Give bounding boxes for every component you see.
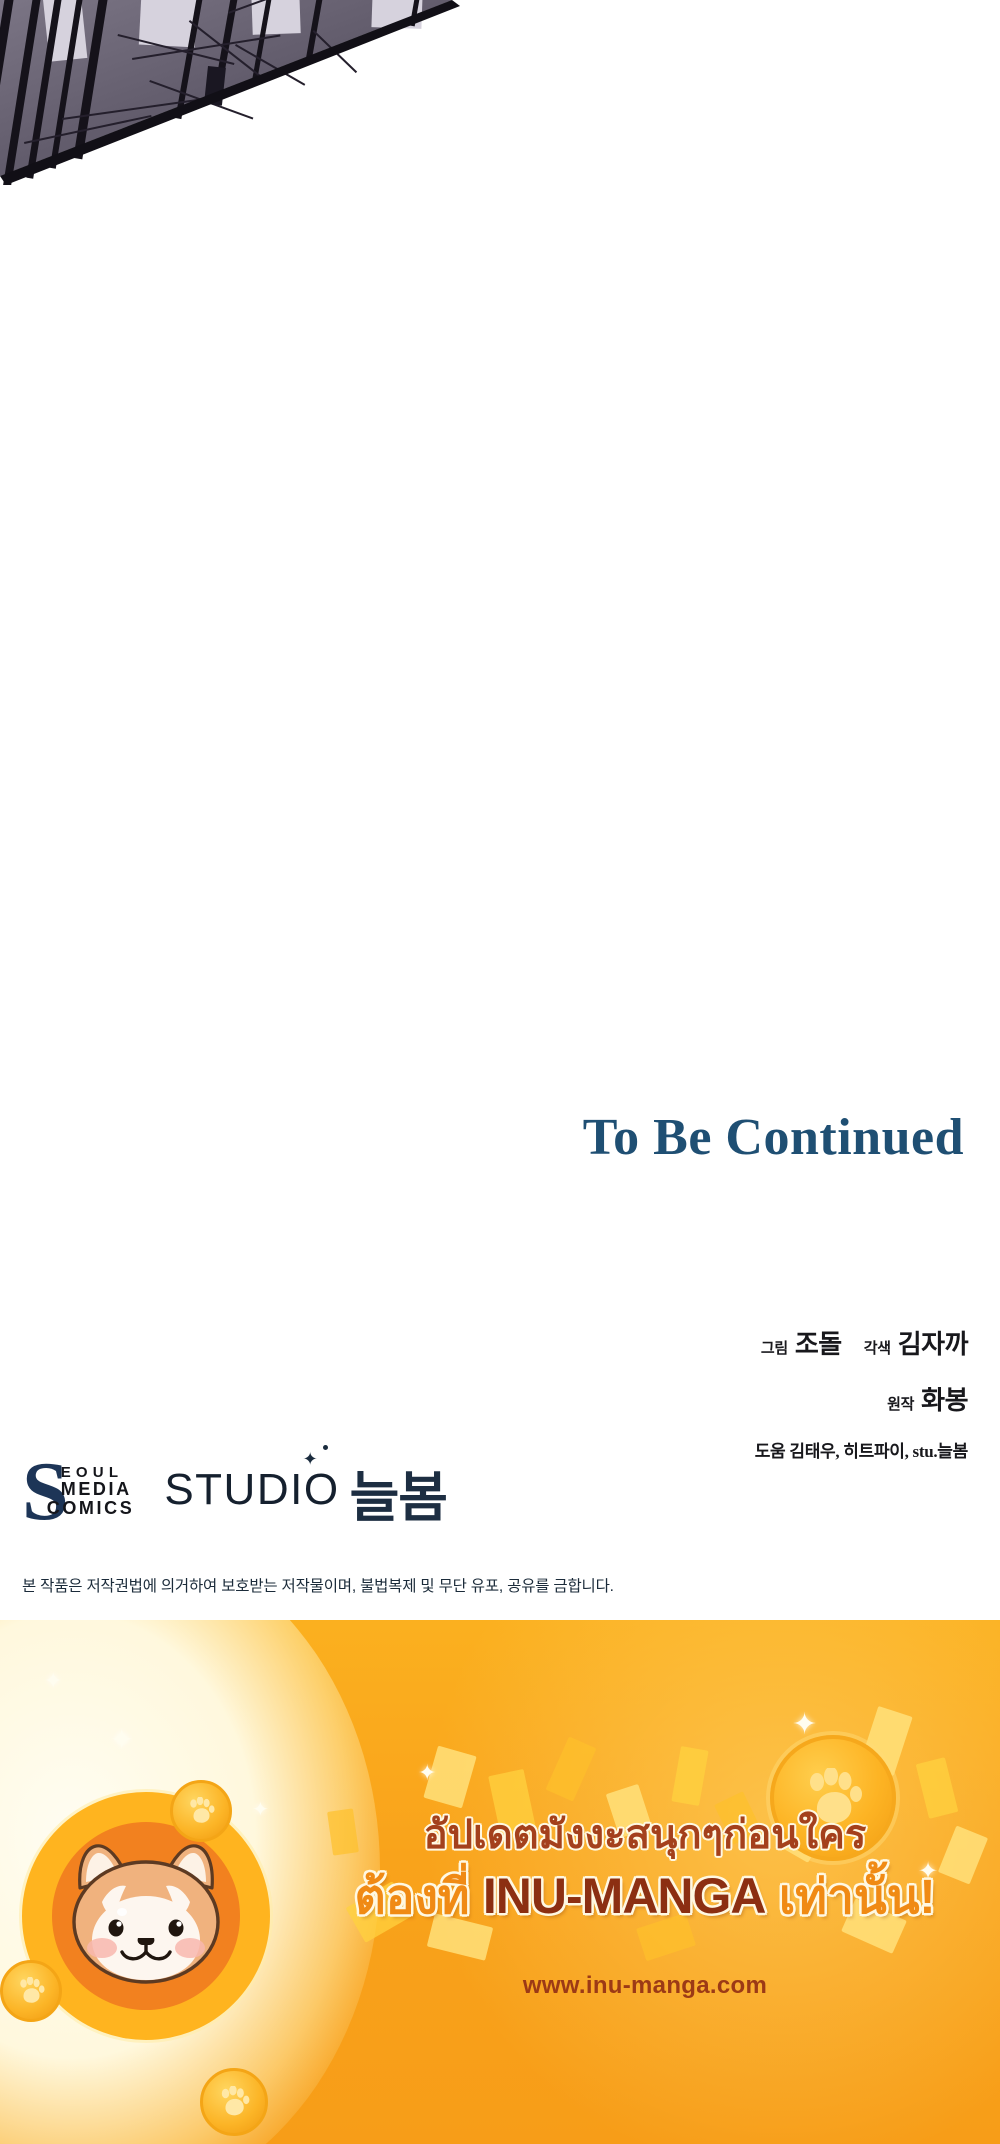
- sparkle-icon: ✦: [792, 1710, 817, 1740]
- banner-website-url[interactable]: www.inu-manga.com: [330, 1972, 960, 2000]
- credit-role-original: 원작: [887, 1397, 914, 1413]
- sparkle-icon: ✦: [418, 1762, 436, 1784]
- inu-manga-ad-banner[interactable]: ✦ ✦ ✦ ✦ ✦ ✦ ✦ ✦: [0, 1620, 1000, 2144]
- sparkle-icon: ✦: [110, 1726, 133, 1754]
- credit-helpers-text: 도움 김태우, 히트파이, stu.늘봄: [755, 1442, 968, 1461]
- copyright-notice: 본 작품은 저작권법에 의거하여 보호받는 저작물이며, 불법복제 및 무단 유…: [22, 1574, 614, 1596]
- banner-headline: อัปเดตมังงะสนุกๆก่อนใคร ต้องที่ INU-MANG…: [330, 1810, 960, 1928]
- seoul-media-line-1: EOUL: [61, 1465, 135, 1480]
- studio-star-icon: ✦: [303, 1452, 318, 1467]
- seoul-media-line-3: COMICS: [47, 1499, 135, 1517]
- banner-headline-line-1: อัปเดตมังงะสนุกๆก่อนใคร: [330, 1810, 960, 1860]
- credit-name-art: 조돌: [795, 1330, 842, 1359]
- banner-brand-name: INU-MANGA: [483, 1868, 766, 1924]
- coin-paw-small: [0, 1960, 62, 2022]
- shiba-face-icon: [60, 1840, 232, 1990]
- sparkle-icon: ✦: [44, 1670, 62, 1692]
- banner-headline-prefix: ต้องที่: [354, 1871, 469, 1924]
- studio-dot-icon: [323, 1445, 328, 1450]
- credit-name-adaptation: 김자까: [898, 1330, 968, 1359]
- credit-role-art: 그림: [761, 1341, 788, 1357]
- seoul-media-comics-logo: S EOUL MEDIA COMICS: [22, 1449, 134, 1531]
- seoul-media-wordmark: EOUL MEDIA COMICS: [61, 1465, 135, 1517]
- panel-paper-sheet: [251, 0, 300, 35]
- paw-print-icon: [203, 2071, 265, 2133]
- paw-print-icon: [173, 1783, 229, 1839]
- credit-role-adaptation: 각색: [864, 1341, 891, 1357]
- to-be-continued-text: To Be Continued: [0, 1108, 964, 1167]
- banner-headline-line-2: ต้องที่ INU-MANGA เท่านั้น!: [330, 1866, 960, 1928]
- studio-word-text: STUDIO: [164, 1465, 339, 1514]
- publisher-logo-row: S EOUL MEDIA COMICS STUDIO ✦ 늘봄: [22, 1442, 447, 1538]
- webtoon-end-page: To Be Continued 그림조돌각색김자까 원작화봉 도움 김태우, 히…: [0, 0, 1000, 2144]
- studio-neulbom-logo: STUDIO ✦ 늘봄: [164, 1451, 447, 1530]
- credit-name-original: 화봉: [921, 1386, 968, 1415]
- comic-panel-fragment: [0, 0, 460, 185]
- paw-print-icon: [3, 1963, 59, 2019]
- shiba-inu-mascot: [22, 1792, 270, 2040]
- seoul-media-line-2: MEDIA: [61, 1480, 135, 1498]
- coin-paw-small: [200, 2068, 268, 2136]
- studio-wordmark: STUDIO ✦: [164, 1465, 339, 1515]
- coin-paw-small: [170, 1780, 232, 1842]
- credit-line-original: 원작화봉: [348, 1386, 968, 1416]
- banner-headline-suffix: เท่านั้น!: [779, 1871, 936, 1924]
- credit-line-artist: 그림조돌각색김자까: [348, 1330, 968, 1360]
- studio-korean-name: 늘봄: [350, 1453, 447, 1532]
